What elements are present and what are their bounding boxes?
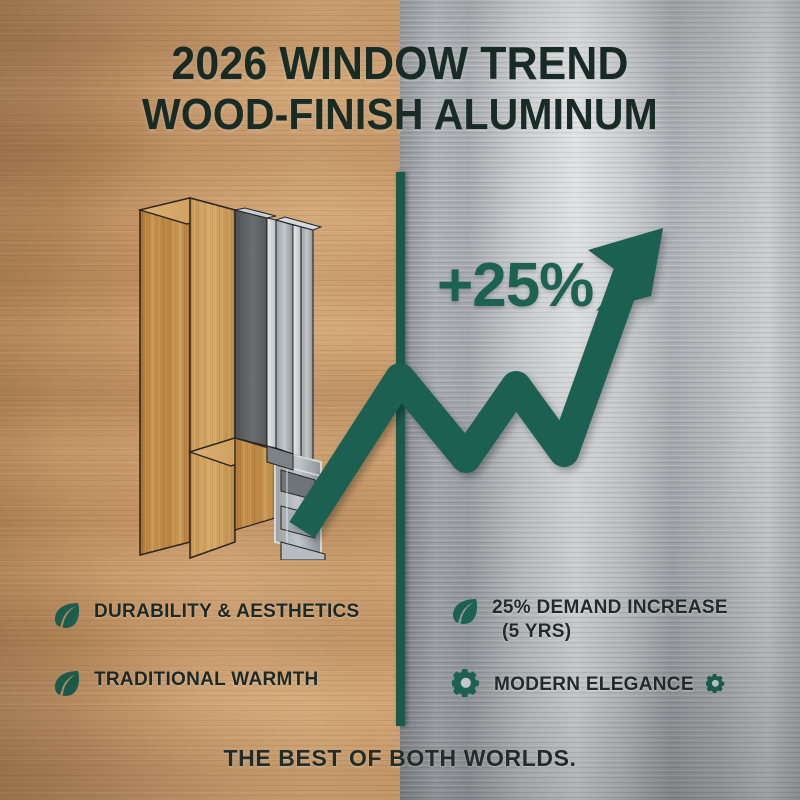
leaf-icon <box>54 669 80 702</box>
title-line-secondary: WOOD-FINISH ALUMINUM <box>28 93 772 137</box>
bullet-label-line2: (5 YRS) <box>492 620 728 644</box>
bullet-label: MODERN ELEGANCE <box>494 673 694 697</box>
bullet-label: TRADITIONAL WARMTH <box>94 668 319 692</box>
leaf-icon <box>452 597 478 630</box>
bullet-traditional-warmth: TRADITIONAL WARMTH <box>54 668 319 702</box>
title-line-primary: 2026 WINDOW TREND <box>28 40 772 86</box>
infographic-canvas: 2026 WINDOW TREND WOOD-FINISH ALUMINUM +… <box>0 0 800 800</box>
footer-tagline: THE BEST OF BOTH WORLDS. <box>0 745 800 772</box>
bullet-demand-increase: 25% DEMAND INCREASE (5 YRS) <box>452 596 728 645</box>
percent-increase-label: +25% <box>437 250 593 321</box>
bullet-label-line1: 25% DEMAND INCREASE <box>492 596 728 620</box>
bullet-modern-elegance: MODERN ELEGANCE <box>452 668 739 702</box>
bullet-label: DURABILITY & AESTHETICS <box>94 600 360 624</box>
gear-icon <box>452 669 480 702</box>
gear-icon <box>706 674 725 698</box>
page-title: 2026 WINDOW TREND WOOD-FINISH ALUMINUM <box>0 40 800 137</box>
leaf-icon <box>54 601 80 634</box>
bullet-durability-aesthetics: DURABILITY & AESTHETICS <box>54 600 360 634</box>
